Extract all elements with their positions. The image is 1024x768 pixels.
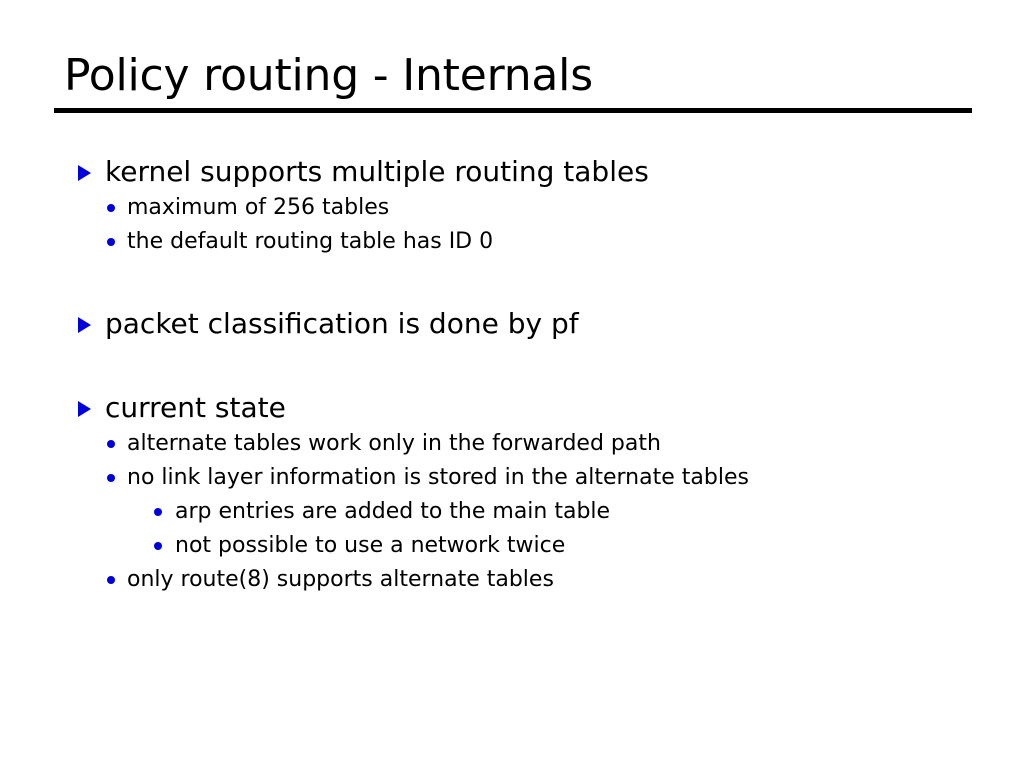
- bullet-text: alternate tables work only in the forwar…: [127, 431, 661, 456]
- dot-icon: [107, 474, 115, 482]
- dot-icon: [107, 440, 115, 448]
- dot-icon: [107, 576, 115, 584]
- bullet-text: only route(8) supports alternate tables: [127, 567, 554, 592]
- bullet-text: packet classification is done by pf: [105, 307, 579, 340]
- triangle-right-icon: [78, 317, 91, 333]
- slide-body-outline: kernel supports multiple routing tables …: [0, 152, 1024, 597]
- bullet-text: no link layer information is stored in t…: [127, 465, 749, 490]
- slide-canvas: Policy routing - Internals kernel suppor…: [0, 0, 1024, 768]
- bullet-text: arp entries are added to the main table: [175, 499, 610, 524]
- dot-icon: [107, 238, 115, 246]
- bullet-level1: kernel supports multiple routing tables: [0, 152, 1024, 191]
- bullet-level2: no link layer information is stored in t…: [0, 461, 1024, 495]
- title-divider: [54, 108, 972, 113]
- bullet-level2: the default routing table has ID 0: [0, 225, 1024, 259]
- bullet-level2: alternate tables work only in the forwar…: [0, 427, 1024, 461]
- triangle-right-icon: [78, 165, 91, 181]
- dot-icon: [107, 204, 115, 212]
- outline-spacer: [0, 343, 1024, 388]
- bullet-text: maximum of 256 tables: [127, 195, 389, 220]
- triangle-right-icon: [78, 401, 91, 417]
- bullet-text: not possible to use a network twice: [175, 533, 565, 558]
- bullet-level2: only route(8) supports alternate tables: [0, 563, 1024, 597]
- bullet-level1: packet classification is done by pf: [0, 304, 1024, 343]
- slide-title-block: Policy routing - Internals: [54, 48, 972, 113]
- bullet-text: current state: [105, 391, 286, 424]
- page-title: Policy routing - Internals: [54, 48, 972, 104]
- dot-icon: [154, 508, 162, 516]
- bullet-text: kernel supports multiple routing tables: [105, 155, 649, 188]
- outline-spacer: [0, 259, 1024, 304]
- bullet-level1: current state: [0, 388, 1024, 427]
- bullet-level3: arp entries are added to the main table: [0, 495, 1024, 529]
- bullet-level3: not possible to use a network twice: [0, 529, 1024, 563]
- dot-icon: [154, 542, 162, 550]
- bullet-text: the default routing table has ID 0: [127, 229, 493, 254]
- bullet-level2: maximum of 256 tables: [0, 191, 1024, 225]
